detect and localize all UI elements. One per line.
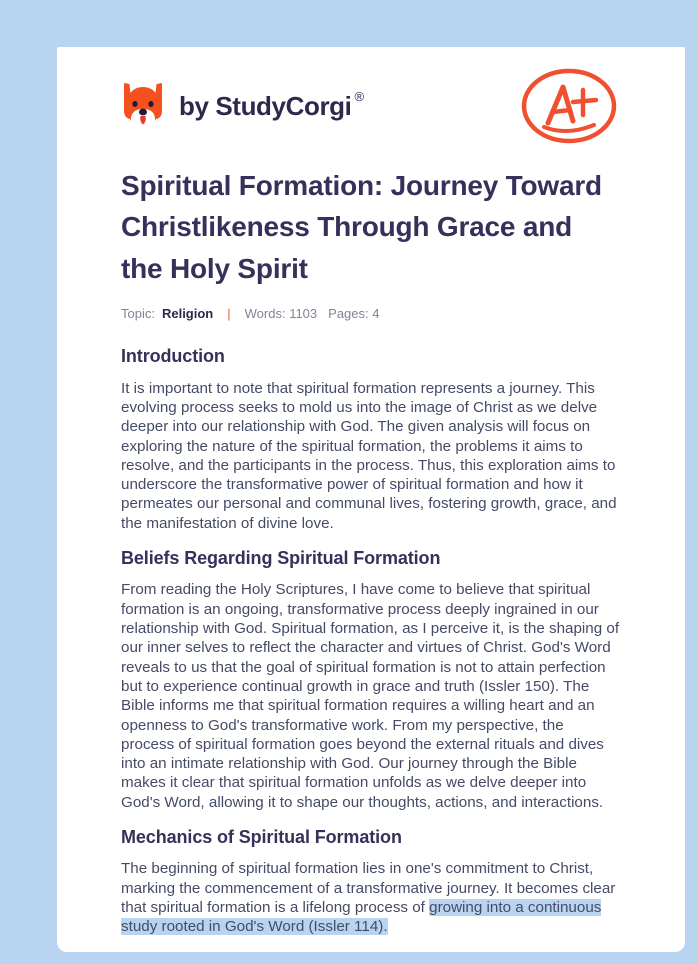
brand-name-text: by StudyCorgi [179,91,351,122]
section-paragraph: It is important to note that spiritual f… [121,379,621,533]
brand-wordmark: by StudyCorgi® [179,91,364,122]
a-plus-grade-icon [517,63,621,149]
section-heading-beliefs: Beliefs Regarding Spiritual Formation [121,547,621,570]
page-title: Spiritual Formation: Journey Toward Chri… [121,165,621,289]
meta-topic-label: Topic: [121,306,155,321]
site-header: by StudyCorgi® [121,47,621,147]
meta-topic-value[interactable]: Religion [162,306,213,321]
text-selection-highlight-band [0,952,698,964]
meta-separator: | [227,306,230,321]
meta-word-count: Words: 1103 [245,306,318,321]
section-paragraph: The beginning of spiritual formation lie… [121,859,621,936]
registered-trademark-mark: ® [354,89,363,104]
section-heading-introduction: Introduction [121,345,621,368]
meta-page-count: Pages: 4 [328,306,379,321]
section-heading-mechanics: Mechanics of Spiritual Formation [121,826,621,849]
section-paragraph: From reading the Holy Scriptures, I have… [121,580,621,812]
brand-logo-link[interactable]: by StudyCorgi® [121,81,364,131]
essay-meta: Topic: Religion | Words: 1103 Pages: 4 [121,306,621,321]
corgi-face-icon [121,81,165,131]
essay-body: Introduction It is important to note tha… [121,345,621,936]
essay-page-sheet: by StudyCorgi® Spiritual Formation: Jour… [57,47,685,952]
